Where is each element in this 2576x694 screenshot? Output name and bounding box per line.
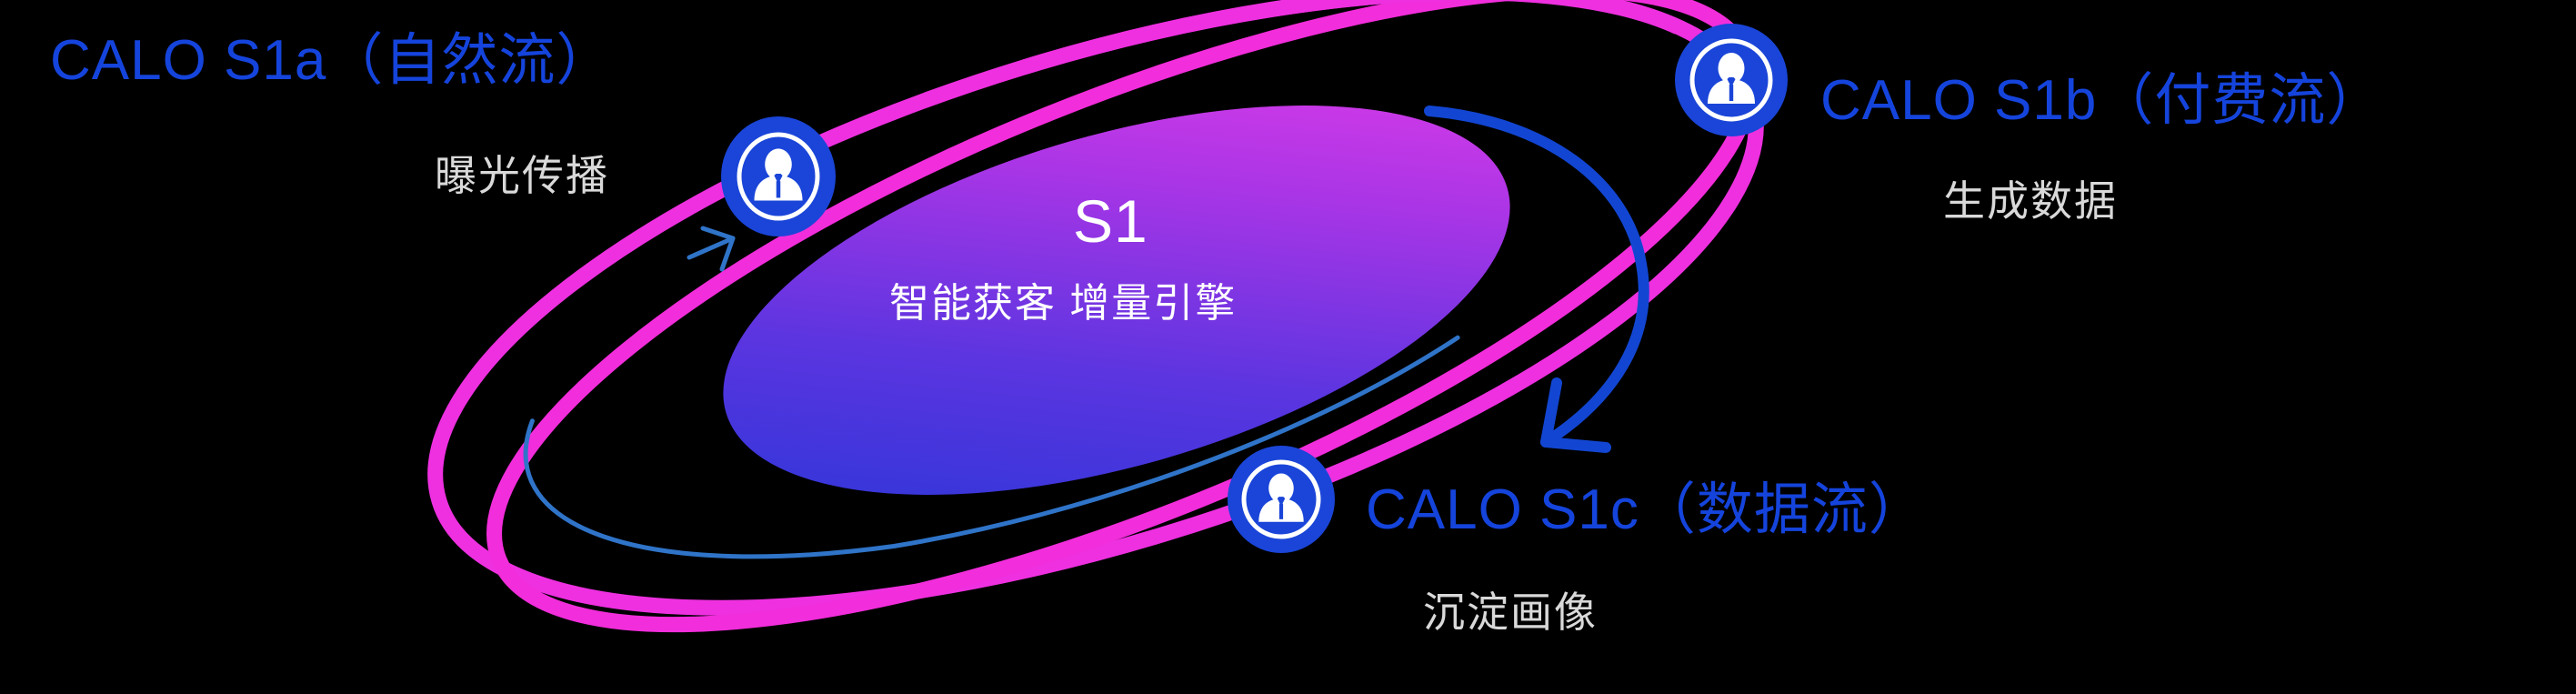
badge-s1a[interactable] (718, 116, 838, 241)
node-label-s1c: CALO S1c（数据流） (1366, 482, 1926, 538)
core-description: 智能获客 增量引擎 (889, 284, 1237, 324)
person-badge-icon (718, 116, 838, 236)
node-sublabel-s1b: 生成数据 (1943, 180, 2118, 222)
badge-s1b[interactable] (1673, 22, 1789, 143)
node-sublabel-s1c: 沉淀画像 (1423, 591, 1598, 633)
core-title: S1 (1073, 191, 1148, 251)
node-sublabel-s1a: 曝光传播 (435, 155, 609, 196)
node-label-s1a: CALO S1a（自然流） (50, 33, 613, 89)
person-badge-icon (1226, 444, 1337, 555)
diagram-canvas: S1 智能获客 增量引擎 CALO S1a（自然流） 曝光传播 CALO S1b… (0, 0, 2576, 694)
node-label-s1b: CALO S1b（付费流） (1820, 73, 2383, 129)
person-badge-icon (1673, 22, 1789, 138)
badge-s1c[interactable] (1226, 444, 1337, 559)
